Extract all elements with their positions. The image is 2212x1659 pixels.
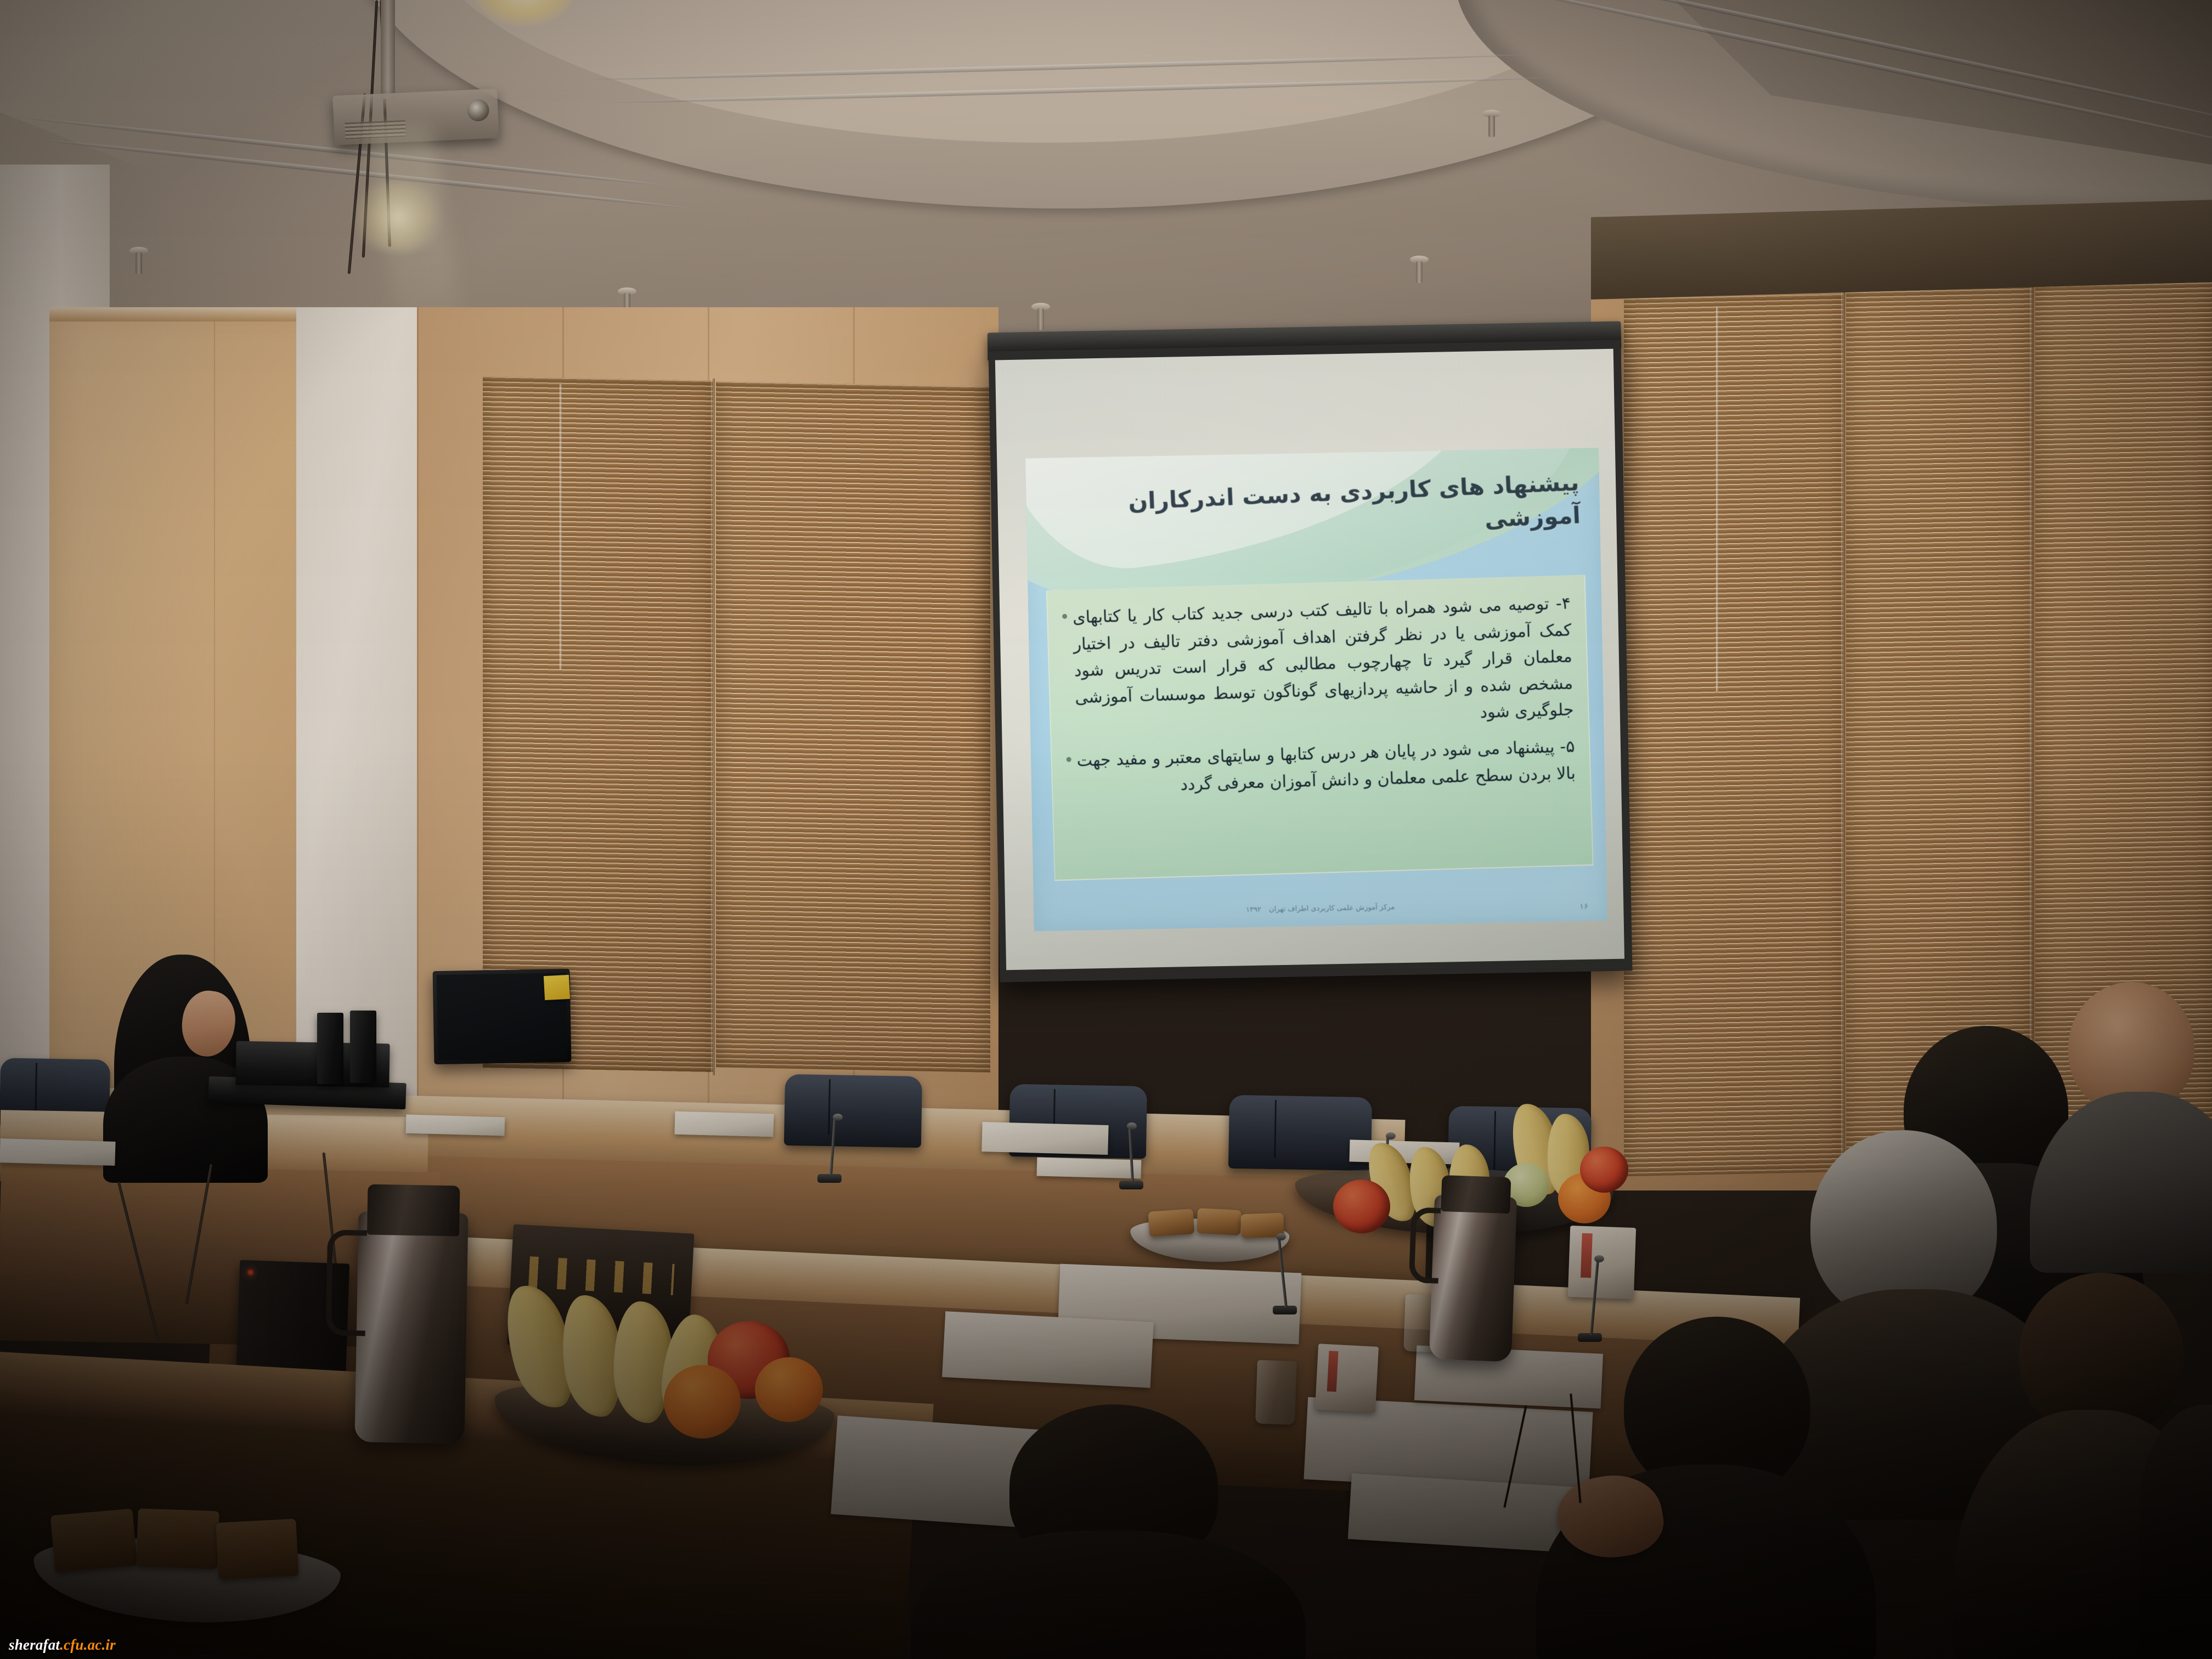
presentation-slide: پیشنهاد های کاربردی به دست اندرکاران آمو…: [1025, 448, 1607, 931]
apple: [1580, 1147, 1628, 1193]
conference-chair[interactable]: [784, 1074, 922, 1148]
blind-pull-cord: [1716, 307, 1718, 691]
slide-page-number: ۱۶: [1579, 901, 1588, 911]
microphone-head: [1594, 1255, 1604, 1262]
slide-footer: مرکز آموزش علمی کاربردی اطراف تهران ۱۳۹۲: [1034, 899, 1607, 918]
audience-member: [2140, 1404, 2212, 1659]
document-sheet: [406, 1114, 505, 1136]
thermos-flask: [1429, 1194, 1517, 1362]
projector-lens: [467, 99, 490, 122]
projection-screen: پیشنهاد های کاربردی به دست اندرکاران آمو…: [989, 340, 1633, 983]
photo-scene: پیشنهاد های کاربردی به دست اندرکاران آمو…: [0, 0, 2212, 1659]
window-blind: [716, 381, 990, 1073]
document-sheet: [981, 1122, 1108, 1155]
audience-member: [911, 1404, 1306, 1659]
audience-shoulders: [2140, 1404, 2212, 1659]
blind-divider: [711, 379, 715, 1075]
microphone-base: [817, 1174, 842, 1183]
bread-slice: [1197, 1208, 1242, 1235]
window-blind: [483, 376, 713, 1072]
tissue-box: [1568, 1226, 1636, 1299]
projector-mount-pole: [381, 0, 395, 99]
orange: [755, 1357, 823, 1422]
window-blind: [1624, 294, 1843, 1176]
microphone-head: [1276, 1233, 1286, 1240]
microphone-head: [1127, 1122, 1137, 1130]
bread-slice: [136, 1508, 219, 1569]
slide-footer-year: ۱۳۹۲: [1246, 906, 1261, 915]
slide-bullet: ۴- توصیه می شود همراه با تالیف کتب درسی …: [1062, 590, 1575, 738]
desktop-speaker: [317, 1013, 343, 1084]
audience-shoulders: [911, 1531, 1306, 1659]
blind-header-rail: [1591, 200, 2212, 300]
watermark-name: sherafat: [9, 1637, 60, 1653]
bread-slice: [50, 1509, 137, 1573]
sticky-note: [544, 975, 570, 1000]
document-sheet: [0, 1138, 116, 1166]
microphone-head: [1386, 1132, 1396, 1139]
microphone-base: [1119, 1181, 1143, 1189]
bullet-dot-icon: [1062, 614, 1067, 619]
orange: [664, 1365, 741, 1438]
fire-sprinkler-head: [1410, 256, 1429, 284]
apple: [1333, 1180, 1390, 1233]
thermos-flask: [354, 1211, 468, 1443]
document-sheet: [674, 1111, 774, 1137]
bread-slice: [1148, 1209, 1194, 1237]
watermark-domain: .cfu.ac.ir: [60, 1637, 116, 1653]
watermark: sherafat.cfu.ac.ir: [9, 1637, 116, 1654]
slide-bullet-text: ۴- توصیه می شود همراه با تالیف کتب درسی …: [1073, 590, 1575, 738]
slide-body: ۴- توصیه می شود همراه با تالیف کتب درسی …: [1046, 575, 1594, 881]
fire-sprinkler-head: [129, 247, 148, 275]
document-sheet: [1037, 1158, 1142, 1179]
slide-footer-text: مرکز آموزش علمی کاربردی اطراف تهران: [1269, 903, 1395, 913]
fire-sprinkler-head: [1482, 110, 1501, 138]
projection-screen-surface: پیشنهاد های کاربردی به دست اندرکاران آمو…: [995, 349, 1624, 970]
bullet-dot-icon: [1066, 757, 1071, 762]
slide-bullet: ۵- پیشنهاد می شود در پایان هر درس کتابها…: [1066, 733, 1576, 802]
tissue-box: [1315, 1344, 1379, 1413]
document-sheet: [942, 1311, 1154, 1388]
desktop-speaker: [350, 1011, 376, 1083]
microphone-head: [833, 1114, 843, 1121]
bread-slice: [216, 1519, 298, 1579]
blind-pull-cord: [560, 384, 562, 669]
fire-sprinkler-head: [1031, 303, 1050, 331]
slide-bullet-text: ۵- پیشنهاد می شود در پایان هر درس کتابها…: [1076, 733, 1576, 801]
